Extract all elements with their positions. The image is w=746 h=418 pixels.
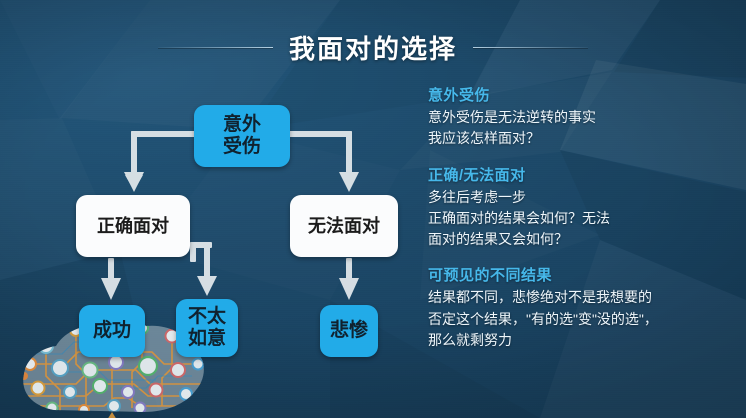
block-line: 那么就剩努力	[428, 330, 738, 351]
node-not-ideal[interactable]: 不太 如意	[176, 299, 238, 357]
text-block-outcomes: 可预见的不同结果 结果都不同，悲惨绝对不是我想要的 否定这个结果，"有的选"变"…	[428, 264, 738, 351]
block-line: 面对的结果又会如何？	[428, 229, 738, 250]
block-line: 我应该怎样面对？	[428, 128, 738, 149]
block-line: 意外受伤是无法逆转的事实	[428, 107, 738, 128]
block-line: 否定这个结果，"有的选"变"没的选"，	[428, 309, 738, 330]
node-label-line: 意外	[223, 114, 261, 136]
node-misery[interactable]: 悲惨	[320, 305, 378, 357]
node-accidental-injury[interactable]: 意外 受伤	[194, 105, 290, 167]
text-block-facing: 正确/无法面对 多往后考虑一步 正确面对的结果会如何？无法 面对的结果又会如何？	[428, 164, 738, 251]
slide-canvas: 我面对的选择	[0, 0, 746, 418]
block-heading: 意外受伤	[428, 84, 738, 105]
text-block-injury: 意外受伤 意外受伤是无法逆转的事实 我应该怎样面对？	[428, 84, 738, 150]
block-heading: 可预见的不同结果	[428, 264, 738, 285]
node-label: 成功	[93, 320, 131, 342]
node-label-line: 不太	[188, 306, 226, 328]
node-label: 无法面对	[308, 216, 380, 237]
title-rule-right	[473, 47, 588, 48]
node-label-line: 如意	[188, 328, 226, 350]
node-success[interactable]: 成功	[79, 305, 145, 357]
block-heading: 正确/无法面对	[428, 164, 738, 185]
node-cannot-face[interactable]: 无法面对	[290, 195, 398, 257]
explanation-column: 意外受伤 意外受伤是无法逆转的事实 我应该怎样面对？ 正确/无法面对 多往后考虑…	[428, 84, 738, 365]
block-line: 结果都不同，悲惨绝对不是我想要的	[428, 287, 738, 308]
node-label: 正确面对	[97, 216, 169, 237]
block-line: 正确面对的结果会如何？无法	[428, 208, 738, 229]
block-line: 多往后考虑一步	[428, 187, 738, 208]
node-face-correctly[interactable]: 正确面对	[76, 195, 190, 257]
node-label-line: 受伤	[223, 136, 261, 158]
node-label: 悲惨	[330, 320, 368, 342]
decision-flow-diagram: 意外 受伤 正确面对 无法面对 成功 不太 如意 悲惨	[0, 0, 420, 418]
